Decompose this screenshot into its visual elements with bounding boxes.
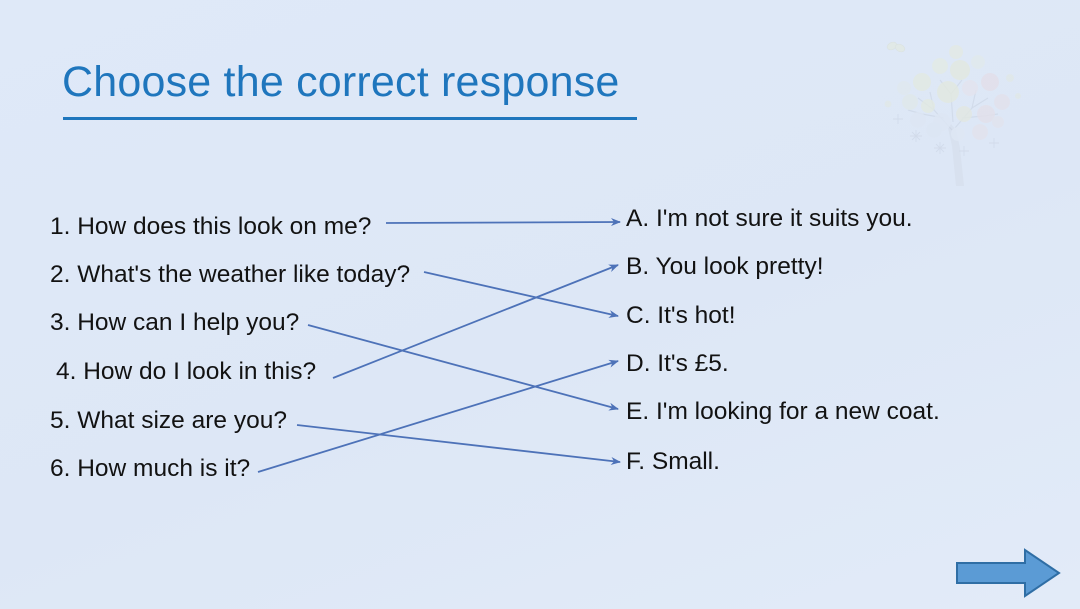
question-item-6[interactable]: 6. How much is it?	[50, 457, 250, 482]
connector-5-to-f	[297, 425, 620, 462]
connector-1-to-a	[386, 222, 620, 223]
answer-item-b[interactable]: B. You look pretty!	[626, 255, 824, 280]
connector-2-to-c	[424, 272, 618, 316]
answer-item-c[interactable]: C. It's hot!	[626, 304, 736, 329]
answer-item-e[interactable]: E. I'm looking for a new coat.	[626, 400, 940, 425]
answer-item-f[interactable]: F. Small.	[626, 450, 720, 475]
slide-canvas: Choose the correct response 1. How does …	[0, 0, 1080, 609]
question-item-4[interactable]: 4. How do I look in this?	[56, 360, 316, 385]
title-underline	[63, 117, 637, 120]
question-item-5[interactable]: 5. What size are you?	[50, 409, 287, 434]
question-item-1[interactable]: 1. How does this look on me?	[50, 215, 371, 240]
question-item-2[interactable]: 2. What's the weather like today?	[50, 263, 410, 288]
flower-tree-icon	[852, 18, 1048, 186]
question-item-3[interactable]: 3. How can I help you?	[50, 311, 299, 336]
connector-3-to-e	[308, 325, 618, 409]
answer-item-a[interactable]: A. I'm not sure it suits you.	[626, 207, 913, 232]
answer-item-d[interactable]: D. It's £5.	[626, 352, 729, 377]
slide-title: Choose the correct response	[62, 60, 620, 105]
next-arrow-icon[interactable]	[955, 547, 1061, 599]
